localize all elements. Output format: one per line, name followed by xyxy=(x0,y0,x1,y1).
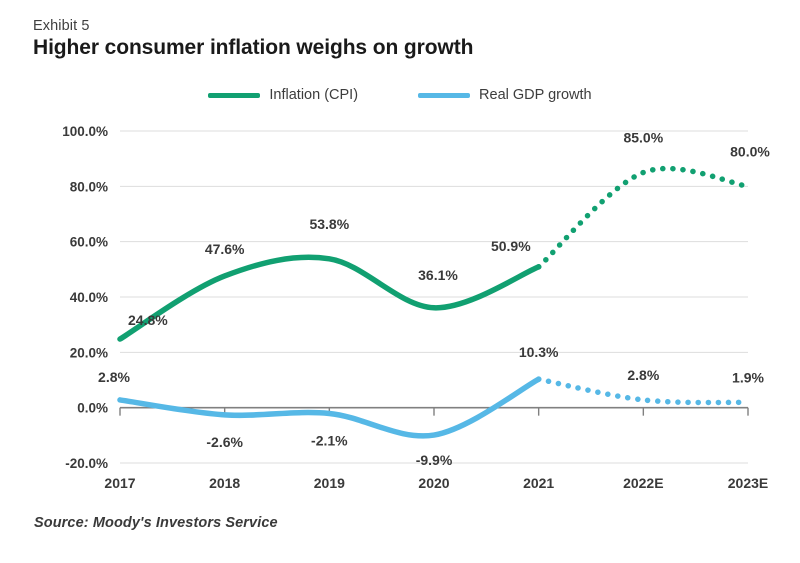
data-point-label: 50.9% xyxy=(491,238,531,254)
data-point-label: 85.0% xyxy=(623,130,663,146)
data-point-label: 1.9% xyxy=(732,369,764,385)
x-axis-tick-label: 2021 xyxy=(523,475,554,491)
x-axis-tick-label: 2020 xyxy=(418,475,449,491)
data-point-label: -2.1% xyxy=(311,432,348,448)
data-point-label: 10.3% xyxy=(519,344,559,360)
chart-data-labels: 24.8%47.6%53.8%36.1%50.9%85.0%80.0%2.8%-… xyxy=(98,130,770,469)
series-line-solid-inflation xyxy=(120,257,539,339)
series-line-forecast-inflation xyxy=(539,169,748,267)
y-axis-tick-label: 0.0% xyxy=(77,401,108,416)
chart-figure: Exhibit 5 Higher consumer inflation weig… xyxy=(0,0,800,563)
x-axis-tick-label: 2023E xyxy=(728,475,768,491)
chart-plot-area: -20.0%0.0%20.0%40.0%60.0%80.0%100.0% 201… xyxy=(0,0,800,563)
data-point-label: -2.6% xyxy=(206,434,243,450)
data-point-label: 80.0% xyxy=(730,143,770,159)
chart-series-lines xyxy=(120,169,748,436)
y-axis-tick-label: 60.0% xyxy=(70,235,108,250)
source-note: Source: Moody's Investors Service xyxy=(34,515,278,531)
y-axis-tick-label: 100.0% xyxy=(62,124,108,139)
x-axis-tick-label: 2019 xyxy=(314,475,345,491)
data-point-label: 2.8% xyxy=(98,369,130,385)
data-point-label: 47.6% xyxy=(205,241,245,257)
data-point-label: 36.1% xyxy=(418,267,458,283)
chart-y-axis-labels: -20.0%0.0%20.0%40.0%60.0%80.0%100.0% xyxy=(62,124,108,471)
data-point-label: 2.8% xyxy=(627,367,659,383)
x-axis-tick-label: 2018 xyxy=(209,475,240,491)
y-axis-tick-label: -20.0% xyxy=(65,456,108,471)
x-axis-tick-label: 2022E xyxy=(623,475,663,491)
data-point-label: 24.8% xyxy=(128,312,168,328)
y-axis-tick-label: 80.0% xyxy=(70,179,108,194)
y-axis-tick-label: 40.0% xyxy=(70,290,108,305)
data-point-label: 53.8% xyxy=(309,216,349,232)
chart-x-axis-labels: 201720182019202020212022E2023E xyxy=(104,475,768,491)
y-axis-tick-label: 20.0% xyxy=(70,345,108,360)
data-point-label: -9.9% xyxy=(416,452,453,468)
x-axis-tick-label: 2017 xyxy=(104,475,135,491)
